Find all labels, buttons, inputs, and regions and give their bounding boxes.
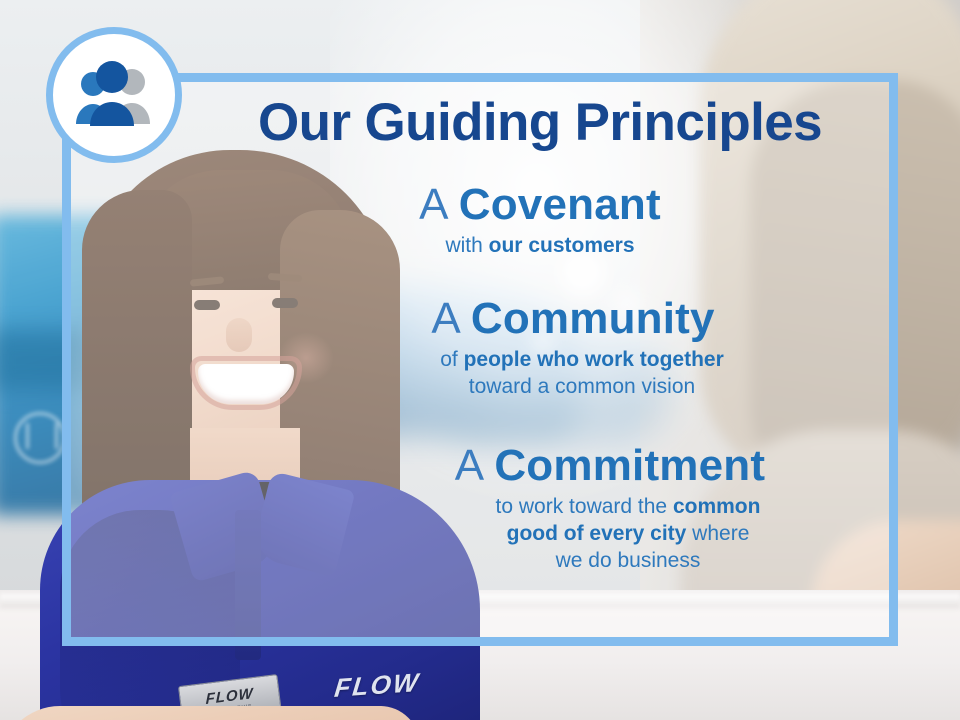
principle-covenant: A Covenant with our customers	[200, 180, 880, 260]
subtext-line2-bold: good of every city	[507, 522, 687, 545]
employee-chest-logo: FLOW	[333, 669, 421, 701]
principle-subtext: to work toward the common good of every …	[200, 494, 880, 575]
principle-subtext: of people who work together toward a com…	[200, 347, 880, 401]
principle-title: A Community	[200, 294, 880, 343]
principle-article: A	[419, 180, 446, 229]
employee-arm	[0, 706, 420, 720]
guiding-principles-graphic: FLOW AUTOMOTIVE FLOW Our Guiding Princip…	[0, 0, 960, 720]
people-group-icon	[66, 60, 162, 130]
subtext-line3: we do business	[556, 549, 701, 572]
principle-subtext: with our customers	[200, 233, 880, 260]
principle-article: A	[455, 441, 482, 490]
principle-title: A Commitment	[200, 441, 880, 490]
subtext-bold: common	[673, 495, 761, 518]
people-group-badge	[46, 27, 182, 163]
subtext-plain: of	[440, 348, 463, 371]
principle-keyword: Commitment	[494, 441, 765, 490]
principle-article: A	[431, 294, 458, 343]
subtext-bold: people who work together	[464, 348, 724, 371]
page-title: Our Guiding Principles	[210, 96, 870, 150]
principle-keyword: Covenant	[459, 180, 661, 229]
principle-community: A Community of people who work together …	[200, 294, 880, 401]
principle-keyword: Community	[471, 294, 715, 343]
subtext-line2: toward a common vision	[469, 375, 695, 398]
principle-commitment: A Commitment to work toward the common g…	[200, 441, 880, 575]
subtext-bold: our customers	[489, 234, 635, 257]
subtext-plain: to work toward the	[496, 495, 673, 518]
subtext-line2-plain: where	[686, 522, 749, 545]
subtext-plain: with	[445, 234, 488, 257]
principle-title: A Covenant	[200, 180, 880, 229]
principles-list: A Covenant with our customers A Communit…	[200, 178, 880, 579]
